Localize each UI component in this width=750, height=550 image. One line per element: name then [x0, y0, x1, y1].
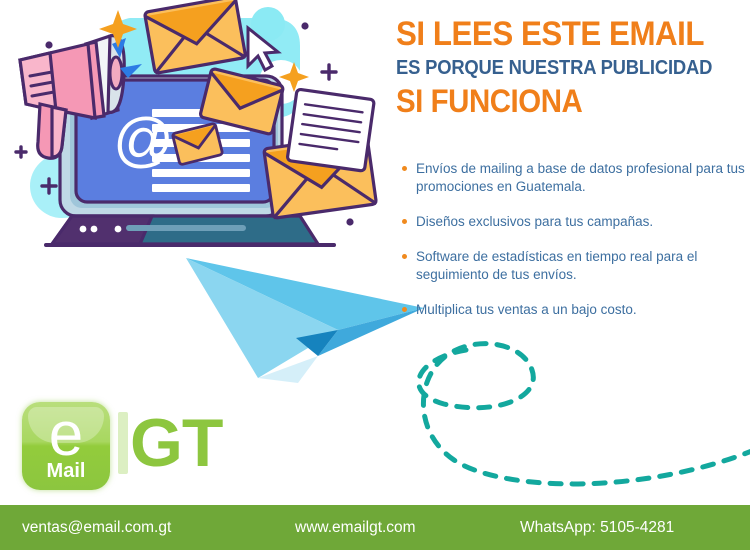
list-item: Diseños exclusivos para tus campañas. — [400, 213, 748, 231]
document-page — [287, 89, 374, 171]
bullet-dot-icon — [402, 166, 407, 171]
logo-word-mail: Mail — [22, 460, 110, 483]
email-marketing-illustration: @ — [0, 0, 392, 270]
bullet-dot-icon — [402, 307, 407, 312]
poster-canvas: @ — [0, 0, 750, 550]
list-item-label: Software de estadísticas en tiempo real … — [416, 249, 697, 282]
footer-email[interactable]: ventas@email.com.gt — [22, 505, 171, 550]
headline-line-2: ES PORQUE NUESTRA PUBLICIDAD — [396, 56, 718, 80]
logo[interactable]: e Mail GT — [18, 398, 248, 498]
logo-wordmark-gt: GT — [130, 404, 222, 482]
bullet-dot-icon — [402, 219, 407, 224]
headline-line-3: SI FUNCIONA — [396, 84, 718, 118]
bullet-dot-icon — [402, 254, 407, 259]
list-item: Multiplica tus ventas a un bajo costo. — [400, 301, 748, 319]
contact-footer-bar: ventas@email.com.gt www.emailgt.com What… — [0, 505, 750, 550]
list-item-label: Multiplica tus ventas a un bajo costo. — [416, 302, 637, 317]
list-item-label: Diseños exclusivos para tus campañas. — [416, 214, 653, 229]
list-item: Software de estadísticas en tiempo real … — [400, 248, 748, 284]
headline-line-1: SI LEES ESTE EMAIL — [396, 16, 718, 52]
logo-badge: e Mail — [22, 402, 110, 490]
logo-divider-bar — [118, 412, 128, 474]
list-item-label: Envíos de mailing a base de datos profes… — [416, 161, 745, 194]
footer-website[interactable]: www.emailgt.com — [295, 505, 416, 550]
benefits-list: Envíos de mailing a base de datos profes… — [400, 160, 748, 319]
headline-block: SI LEES ESTE EMAIL ES PORQUE NUESTRA PUB… — [396, 16, 746, 118]
dashed-trail — [330, 320, 750, 510]
list-item: Envíos de mailing a base de datos profes… — [400, 160, 748, 196]
footer-whatsapp[interactable]: WhatsApp: 5105-4281 — [520, 505, 674, 550]
